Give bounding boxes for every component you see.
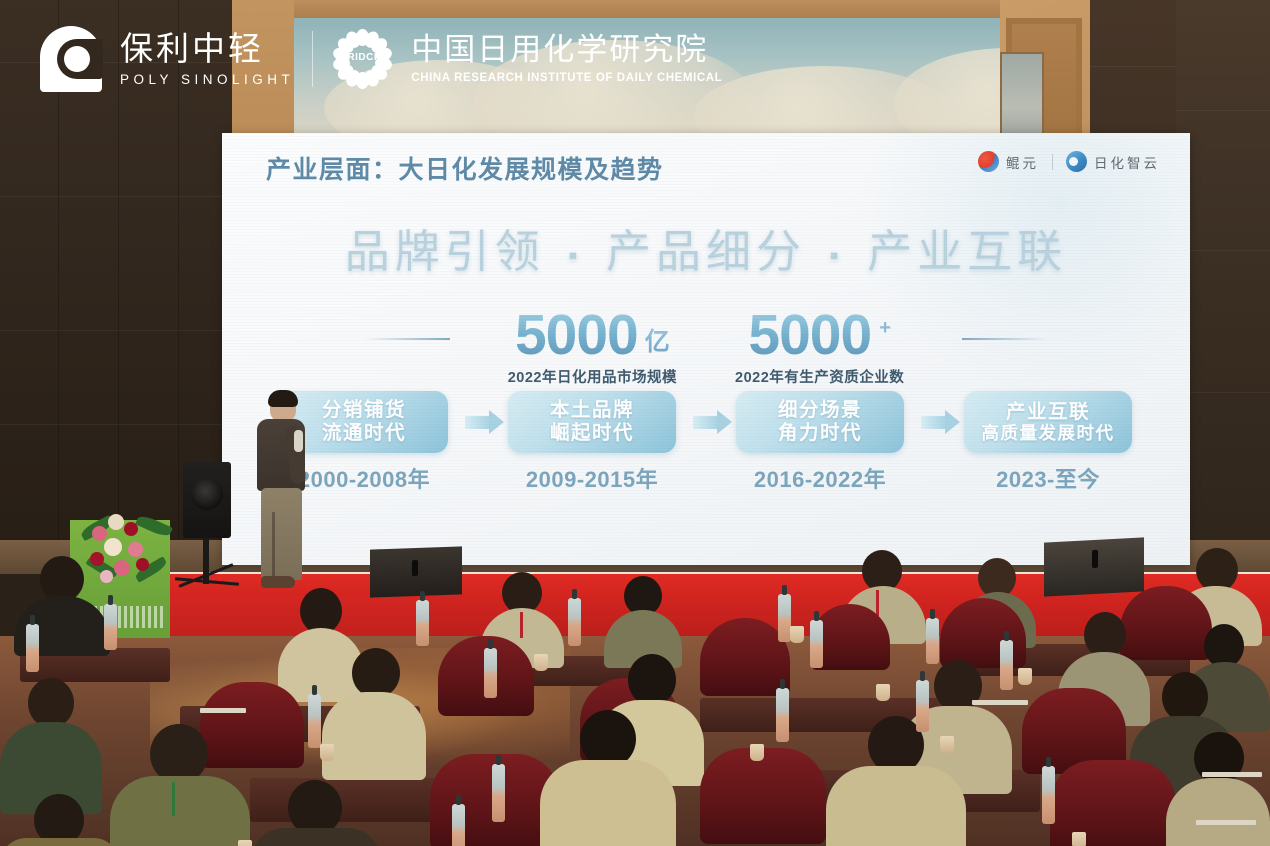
timeline-box-3-line1: 细分场景: [778, 399, 862, 422]
timeline-box-4-line2: 高质量发展时代: [982, 423, 1115, 443]
kunyuan-icon: [978, 151, 999, 172]
timeline-box-3: 细分场景 角力时代: [736, 391, 904, 453]
stat-caption-1: 2022年日化用品市场规模: [508, 366, 677, 387]
paper-cup: [940, 736, 954, 753]
slide-title: 产业层面：大日化发展规模及趋势: [266, 150, 664, 186]
slide-slogan: 品牌引领 ▪ 产品细分 ▪ 产业互联: [222, 215, 1190, 280]
paper-cup: [1018, 668, 1032, 685]
timeline-year-2: 2009-2015年: [508, 462, 676, 494]
wall-panel-right-outer: [1176, 0, 1270, 560]
slogan-part-2: 产品细分: [606, 226, 806, 277]
water-bottle: [492, 764, 505, 822]
poly-english-name: POLY SINOLIGHT: [120, 73, 294, 87]
timeline-arrow-3-icon: [904, 391, 964, 453]
list-item: [1166, 732, 1270, 846]
stat-plus-2: +: [879, 317, 891, 340]
list-item: [110, 724, 250, 846]
microphone-icon: [294, 430, 303, 452]
kunyuan-label: 鲲元: [1006, 152, 1039, 172]
paper-cup: [790, 626, 804, 643]
water-bottle: [104, 604, 117, 650]
rihuazhiyun-label: 日化智云: [1094, 152, 1160, 172]
timeline-box-4-line1: 产业互联: [1006, 401, 1090, 424]
ridci-logo-icon: RIDCI: [331, 28, 393, 90]
timeline-box-2-line1: 本土品牌: [550, 399, 634, 422]
timeline-arrow-1-icon: [448, 391, 508, 453]
water-bottle: [776, 688, 789, 742]
water-bottle: [452, 804, 465, 846]
presenter-hair: [268, 390, 298, 407]
brand-divider: [312, 31, 313, 87]
paper-cup: [876, 684, 890, 701]
timeline-box-2-line2: 崛起时代: [550, 422, 634, 445]
stat-rule-left: [364, 338, 450, 340]
paper-cup: [238, 840, 252, 846]
ridci-wordmark: 中国日用化学研究院 CHINA RESEARCH INSTITUTE OF DA…: [411, 34, 722, 85]
timeline-item-3: 细分场景 角力时代 2016-2022年: [736, 391, 904, 494]
timeline-box-3-line2: 角力时代: [778, 422, 862, 445]
ridci-english-name: CHINA RESEARCH INSTITUTE OF DAILY CHEMIC…: [411, 73, 722, 85]
chair: [1050, 760, 1176, 846]
projection-screen: 产业层面：大日化发展规模及趋势 鲲元 日化智云 品牌引领 ▪ 产品细分 ▪ 产业…: [222, 133, 1190, 565]
stat-caption-2: 2022年有生产资质企业数: [735, 366, 904, 387]
slogan-sep-2: ▪: [824, 240, 850, 270]
slogan-sep-1: ▪: [562, 240, 588, 270]
timeline-box-2: 本土品牌 崛起时代: [508, 391, 676, 453]
stat-company-count: 5000 + 2022年有生产资质企业数: [735, 308, 904, 387]
documents: [972, 700, 1028, 705]
stat-number-1: 5000: [515, 308, 638, 362]
paper-cup: [750, 744, 764, 761]
rihuazhiyun-icon: [1066, 151, 1087, 172]
timeline-item-4: 产业互联 高质量发展时代 2023-至今: [964, 391, 1132, 494]
list-item: [250, 780, 382, 846]
timeline-year-4: 2023-至今: [964, 462, 1132, 494]
water-bottle: [26, 624, 39, 672]
paper-cup: [320, 744, 334, 761]
timeline-box-1-line2: 流通时代: [322, 422, 406, 445]
list-item: [604, 576, 682, 666]
water-bottle: [810, 620, 823, 668]
slide-logo-group: 鲲元 日化智云: [978, 151, 1160, 172]
water-bottle: [1042, 766, 1055, 824]
timeline-arrow-2-icon: [676, 391, 736, 453]
slogan-part-1: 品牌引领: [345, 226, 545, 277]
stat-number-2: 5000: [748, 308, 871, 362]
water-bottle: [416, 600, 429, 646]
conference-photo-scene: 保利中轻 POLY SINOLIGHT RIDCI 中国日用化学研究院 CHIN…: [0, 0, 1270, 846]
pa-speaker-cone: [191, 478, 223, 510]
water-bottle: [568, 598, 581, 646]
audience-area: [0, 548, 1270, 846]
pa-speaker-on-tripod: [183, 462, 231, 538]
paper-cup: [1072, 832, 1086, 846]
timeline-year-3: 2016-2022年: [736, 462, 904, 494]
poly-sinolight-logo-icon: [40, 26, 102, 92]
documents: [200, 708, 246, 713]
documents: [1202, 772, 1262, 777]
slide-timeline: 分销铺货 流通时代 2000-2008年 本土品牌 崛起时代 2009-2015…: [280, 391, 1132, 494]
slide-logo-rihuazhiyun: 日化智云: [1066, 151, 1160, 172]
ridci-chinese-name: 中国日用化学研究院: [411, 34, 722, 65]
list-item: [322, 648, 426, 776]
water-bottle: [926, 618, 939, 664]
slogan-part-3: 产业互联: [867, 226, 1067, 277]
timeline-box-4: 产业互联 高质量发展时代: [964, 391, 1132, 453]
slide-stats-row: 5000 亿 2022年日化用品市场规模 5000 + 2022年有生产资质企业…: [222, 308, 1190, 387]
water-bottle: [308, 694, 321, 748]
paper-cup: [534, 654, 548, 671]
stat-unit-1: 亿: [645, 322, 670, 358]
timeline-item-2: 本土品牌 崛起时代 2009-2015年: [508, 391, 676, 494]
backdrop-brand-bar: 保利中轻 POLY SINOLIGHT RIDCI 中国日用化学研究院 CHIN…: [40, 26, 722, 92]
water-bottle: [1000, 640, 1013, 690]
list-item: [0, 794, 120, 846]
list-item: [540, 710, 676, 846]
water-bottle: [916, 680, 929, 732]
stat-rule-right: [962, 338, 1048, 340]
timeline-box-1-line1: 分销铺货: [322, 399, 406, 422]
documents: [1196, 820, 1256, 825]
slide-logo-divider: [1052, 154, 1053, 170]
stat-market-size: 5000 亿 2022年日化用品市场规模: [508, 308, 677, 387]
list-item: [0, 678, 102, 810]
poly-chinese-name: 保利中轻: [120, 32, 294, 65]
slide-logo-kunyuan: 鲲元: [978, 151, 1039, 172]
water-bottle: [484, 648, 497, 698]
chair: [700, 618, 790, 696]
poly-sinolight-wordmark: 保利中轻 POLY SINOLIGHT: [120, 32, 294, 87]
chair: [700, 748, 826, 844]
